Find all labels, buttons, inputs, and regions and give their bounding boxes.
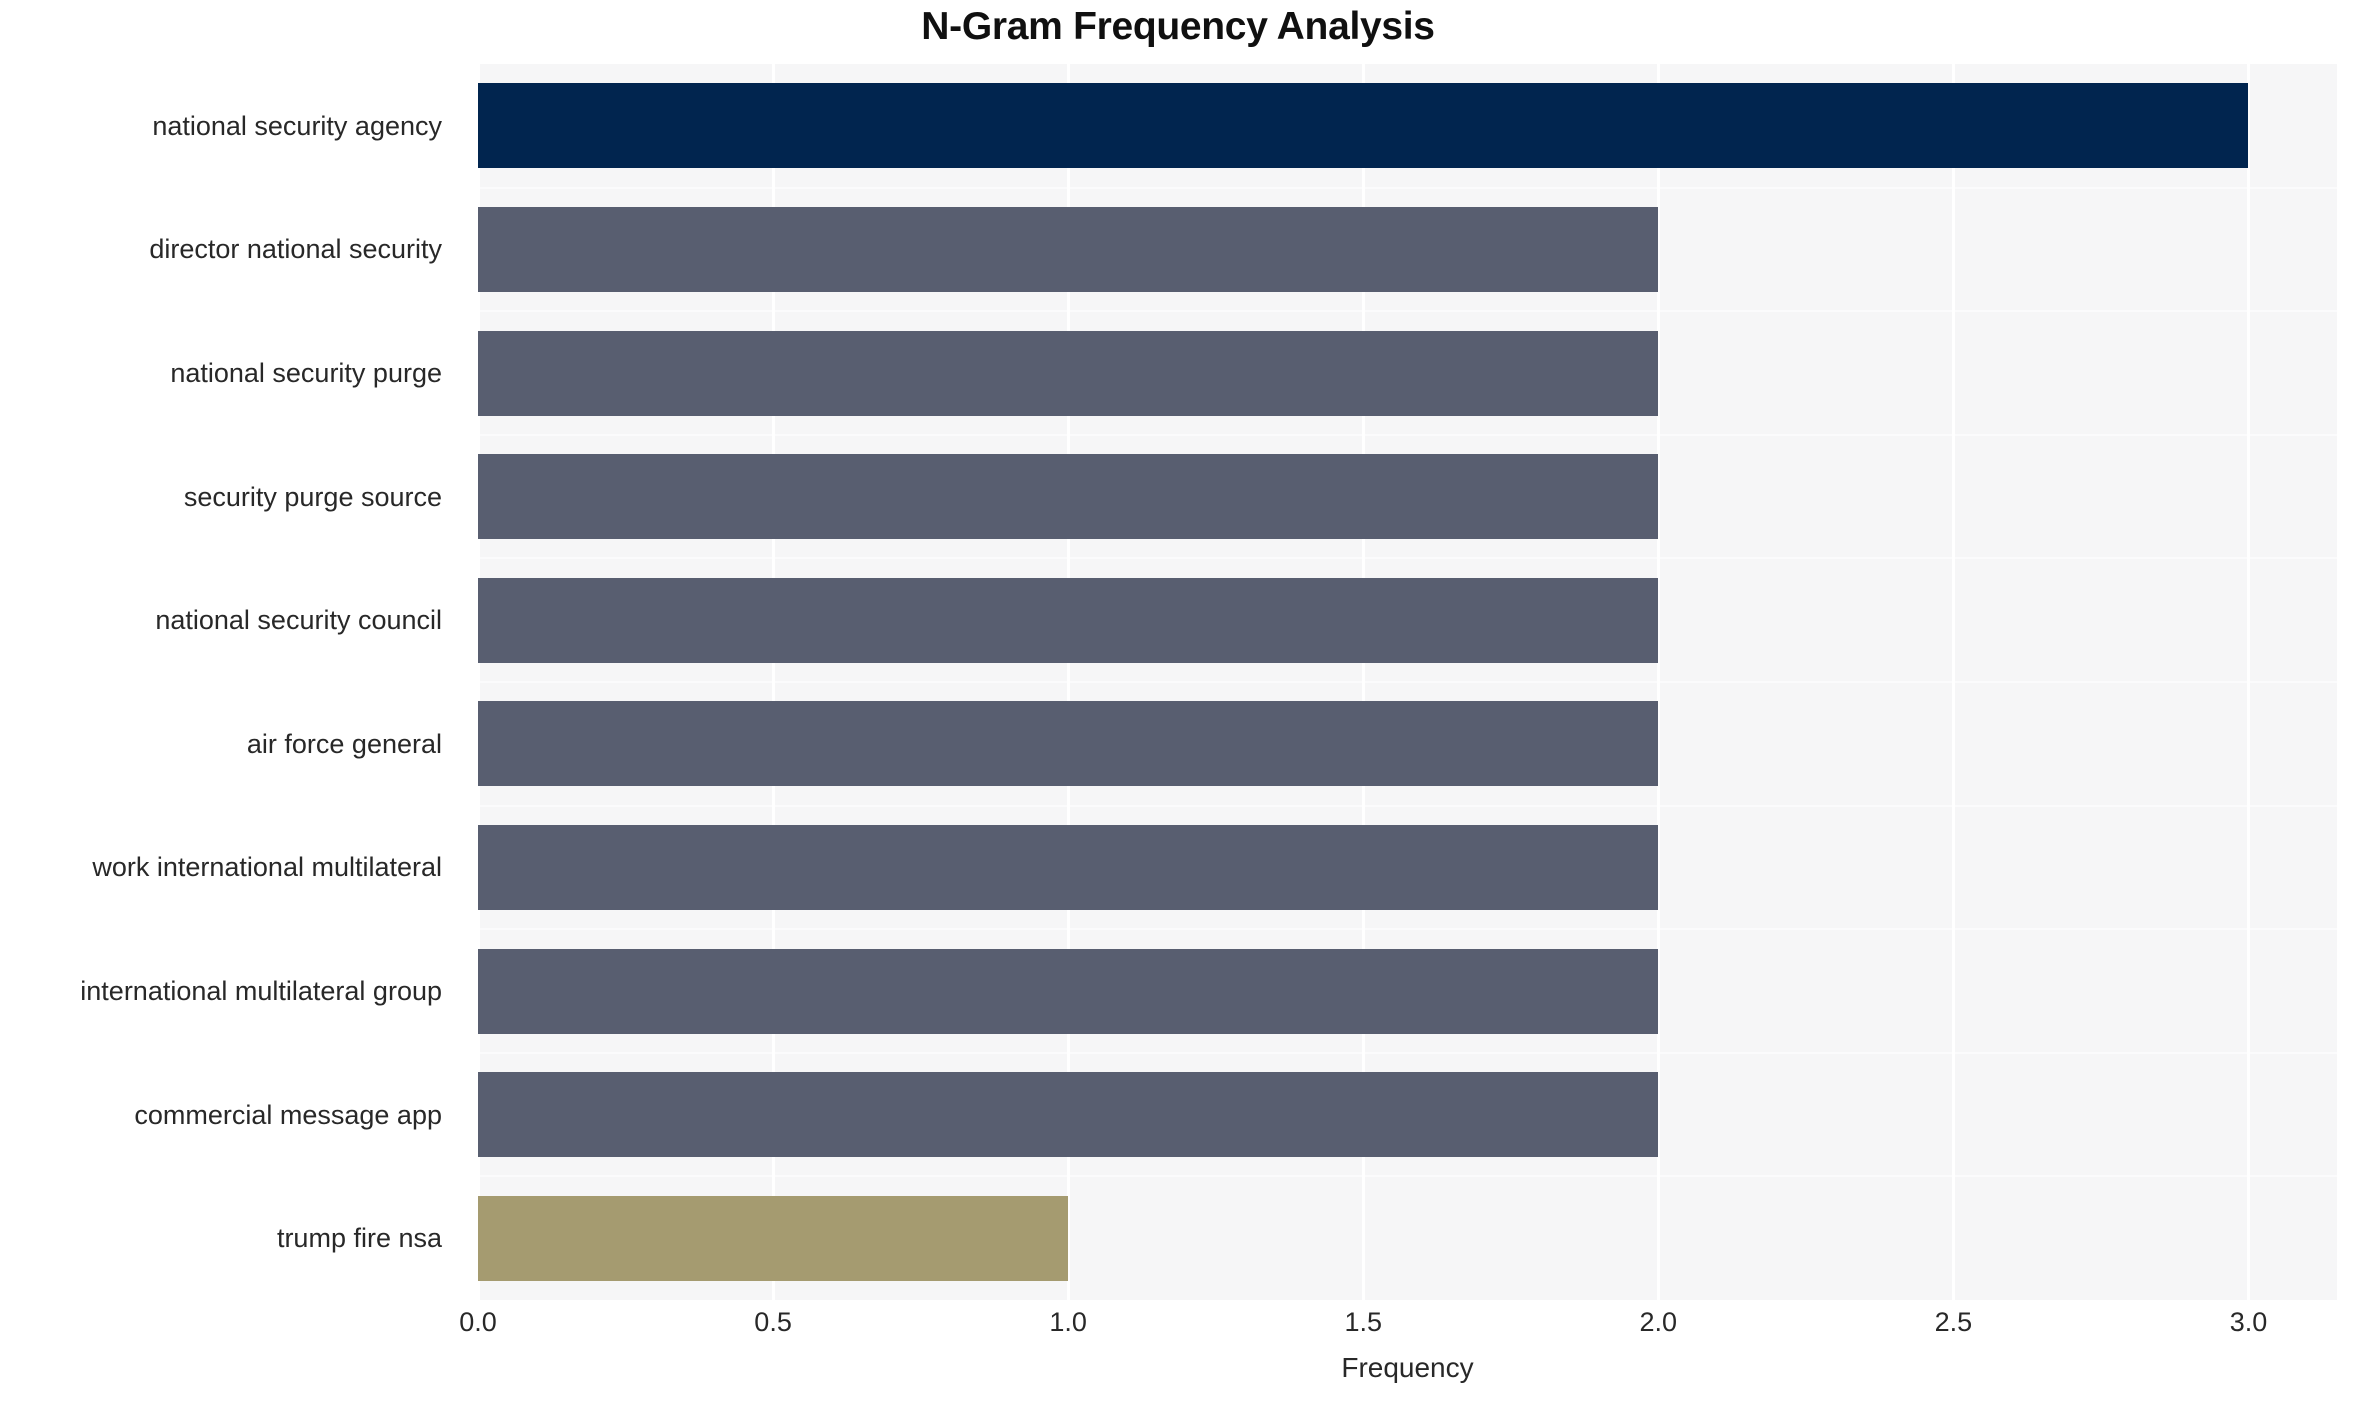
- y-axis-tick-label: national security agency: [2, 111, 442, 141]
- y-axis-tick-label: director national security: [2, 234, 442, 264]
- x-axis-tick-label: 0.5: [754, 1306, 792, 1338]
- bar[interactable]: [478, 331, 1658, 416]
- x-axis-tick-labels: 0.00.51.01.52.02.53.0: [478, 1306, 2337, 1346]
- bar[interactable]: [478, 578, 1658, 663]
- y-axis-tick-labels: national security agencydirector nationa…: [0, 64, 460, 1300]
- gridline-vertical: [1952, 64, 1955, 1300]
- gridline-horizontal: [478, 310, 2337, 312]
- x-axis-tick-label: 1.0: [1049, 1306, 1087, 1338]
- gridline-horizontal: [478, 557, 2337, 559]
- gridline-horizontal: [478, 805, 2337, 807]
- bar[interactable]: [478, 1196, 1068, 1281]
- y-axis-tick-label: national security purge: [2, 358, 442, 388]
- gridline-horizontal: [478, 681, 2337, 683]
- x-axis-tick-label: 2.5: [1935, 1306, 1973, 1338]
- y-axis-tick-label: trump fire nsa: [2, 1223, 442, 1253]
- gridline-horizontal: [478, 1175, 2337, 1177]
- x-axis-tick-label: 0.0: [459, 1306, 497, 1338]
- bar[interactable]: [478, 454, 1658, 539]
- gridline-horizontal: [478, 434, 2337, 436]
- bar[interactable]: [478, 825, 1658, 910]
- y-axis-tick-label: work international multilateral: [2, 852, 442, 882]
- gridline-horizontal: [478, 1052, 2337, 1054]
- plot-area: [478, 64, 2337, 1300]
- x-axis-title: Frequency: [478, 1351, 2337, 1385]
- y-axis-tick-label: security purge source: [2, 482, 442, 512]
- bar[interactable]: [478, 207, 1658, 292]
- y-axis-tick-label: international multilateral group: [2, 976, 442, 1006]
- chart-figure: N-Gram Frequency Analysis national secur…: [0, 0, 2356, 1402]
- y-axis-tick-label: air force general: [2, 729, 442, 759]
- bar[interactable]: [478, 1072, 1658, 1157]
- bar[interactable]: [478, 701, 1658, 786]
- bar[interactable]: [478, 949, 1658, 1034]
- chart-title: N-Gram Frequency Analysis: [0, 5, 2356, 49]
- gridline-vertical: [2247, 64, 2250, 1300]
- x-axis-tick-label: 1.5: [1344, 1306, 1382, 1338]
- y-axis-tick-label: commercial message app: [2, 1100, 442, 1130]
- x-axis-tick-label: 2.0: [1640, 1306, 1678, 1338]
- gridline-horizontal: [478, 187, 2337, 189]
- x-axis-tick-label: 3.0: [2230, 1306, 2268, 1338]
- y-axis-tick-label: national security council: [2, 605, 442, 635]
- bar[interactable]: [478, 83, 2248, 168]
- gridline-horizontal: [478, 928, 2337, 930]
